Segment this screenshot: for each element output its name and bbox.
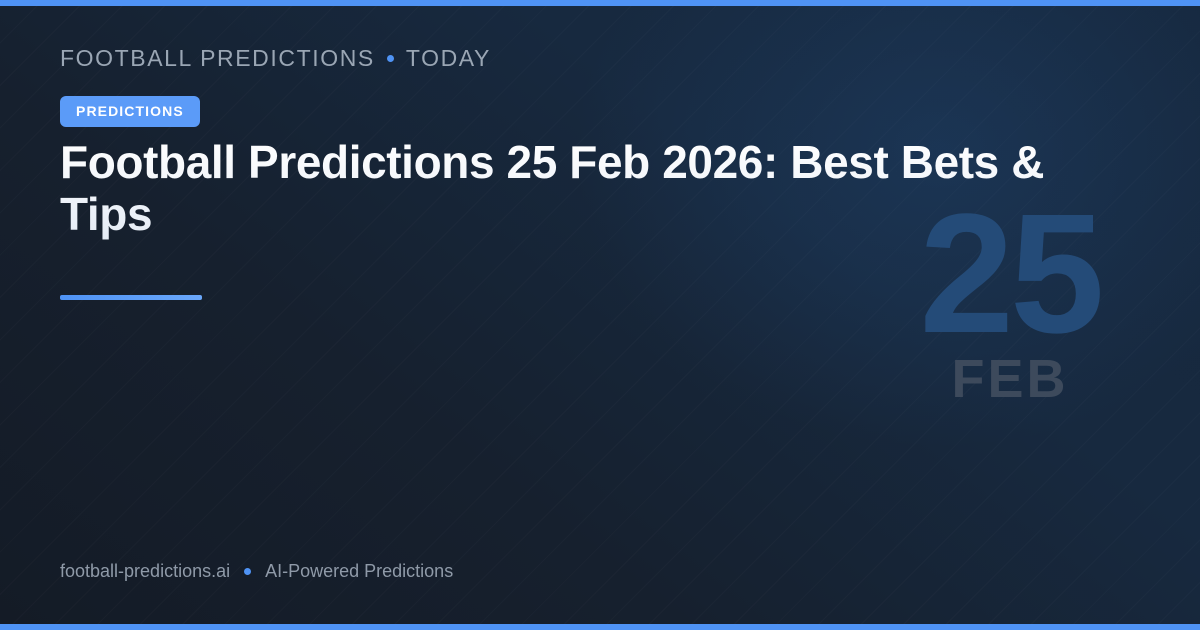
page-title: Football Predictions 25 Feb 2026: Best B… bbox=[60, 137, 1060, 241]
eyebrow-timeframe: TODAY bbox=[406, 45, 491, 72]
content-column: FOOTBALL PREDICTIONS TODAY PREDICTIONS F… bbox=[60, 0, 1140, 630]
eyebrow-category: FOOTBALL PREDICTIONS bbox=[60, 45, 375, 72]
accent-underline bbox=[60, 295, 202, 300]
footer-site-name: football-predictions.ai bbox=[60, 561, 230, 582]
footer: football-predictions.ai AI-Powered Predi… bbox=[60, 561, 453, 582]
bullet-dot-icon bbox=[387, 55, 394, 62]
bullet-dot-icon bbox=[244, 568, 251, 575]
share-card-banner: 25 FEB FOOTBALL PREDICTIONS TODAY PREDIC… bbox=[0, 0, 1200, 630]
eyebrow: FOOTBALL PREDICTIONS TODAY bbox=[60, 45, 491, 72]
status-badge: PREDICTIONS bbox=[60, 96, 200, 127]
footer-tagline: AI-Powered Predictions bbox=[265, 561, 453, 582]
